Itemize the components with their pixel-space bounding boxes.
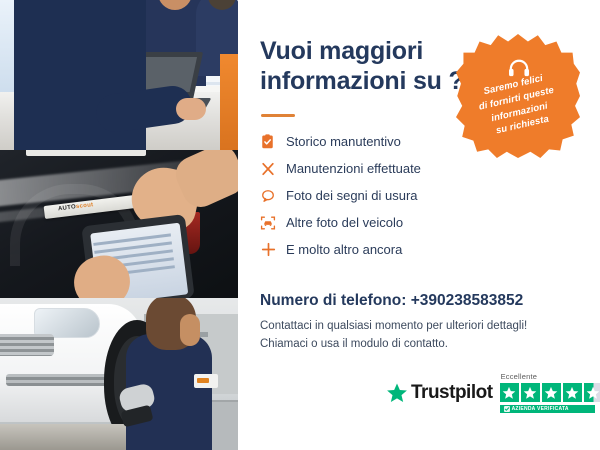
- feature-item-much-more: E molto altro ancora: [260, 236, 510, 263]
- feature-item-wear-photos: Foto dei segni di usura: [260, 182, 510, 209]
- car-body-inspection-ruler-photo: AUTOscout: [0, 150, 238, 298]
- call-center-agent-headset-photo: [0, 0, 238, 150]
- trustpilot-logo: Trustpilot: [386, 382, 493, 404]
- wrench-cross-icon: [260, 159, 286, 179]
- star-box-half: [584, 383, 600, 402]
- car-grille: [0, 334, 54, 356]
- car-lower-grille: [6, 374, 110, 386]
- feature-label: Foto dei segni di usura: [286, 189, 418, 202]
- trustpilot-widget[interactable]: Trustpilot Eccellente: [386, 372, 600, 413]
- ruler-brand-text: AUTOscout: [58, 202, 94, 212]
- contact-subtext-line-1: Contattaci in qualsiasi momento per ulte…: [260, 320, 527, 332]
- agent-hand: [176, 98, 206, 120]
- feature-label: Storico manutentivo: [286, 135, 401, 148]
- phone-number-line: Numero di telefono: +390238583852: [260, 292, 523, 310]
- white-trim-strip: [26, 150, 146, 156]
- trustpilot-verified-badge: AZIENDA VERIFICATA: [500, 405, 595, 413]
- car-scan-icon: [260, 213, 286, 233]
- headline-line-2: informazioni su ?: [260, 67, 464, 95]
- trustpilot-brand-name: Trustpilot: [411, 382, 493, 404]
- page-title: Vuoi maggiori informazioni su ?: [260, 36, 470, 96]
- feature-list: Storico manutentivo Manutenzioni effettu…: [260, 128, 510, 263]
- phone-number[interactable]: +390238583852: [411, 292, 524, 309]
- star-box: [521, 383, 540, 402]
- verified-badge-text: AZIENDA VERIFICATA: [512, 406, 569, 412]
- trustpilot-rating-label: Eccellente: [501, 372, 538, 381]
- feature-label: Manutenzioni effettuate: [286, 162, 421, 175]
- feature-item-more-vehicle-photos: Altre foto del veicolo: [260, 209, 510, 236]
- mechanic-uniform-badge: [194, 374, 218, 388]
- advertisement-banner: AUTOscout: [0, 0, 600, 450]
- plus-icon: [260, 240, 286, 260]
- feature-item-maintenance-performed: Manutenzioni effettuate: [260, 155, 510, 182]
- star-box: [500, 383, 519, 402]
- verified-check-icon: [504, 406, 510, 412]
- feature-item-maintenance-history: Storico manutentivo: [260, 128, 510, 155]
- content-panel: Vuoi maggiori informazioni su ? Saremo f…: [238, 0, 600, 450]
- trustpilot-rating-block: Eccellente: [500, 372, 600, 413]
- photo-column: AUTOscout: [0, 0, 238, 450]
- feature-label: Altre foto del veicolo: [286, 216, 403, 229]
- headline-line-1: Vuoi maggiori: [260, 37, 423, 65]
- phone-label: Numero di telefono:: [260, 292, 406, 309]
- star-box: [563, 383, 582, 402]
- mechanic-wheel-inspection-photo: [0, 298, 238, 450]
- mechanic-face: [180, 314, 200, 346]
- trustpilot-star-icon: [386, 382, 408, 404]
- feature-label: E molto altro ancora: [286, 243, 402, 256]
- contact-subtext-line-2: Chiamaci o usa il modulo di contatto.: [260, 338, 448, 350]
- speech-bubble-icon: [260, 186, 286, 206]
- orange-post: [220, 54, 238, 150]
- star-box: [542, 383, 561, 402]
- trustpilot-star-rating: [500, 383, 600, 402]
- title-underline-rule: [261, 114, 295, 117]
- clipboard-check-icon: [260, 132, 286, 152]
